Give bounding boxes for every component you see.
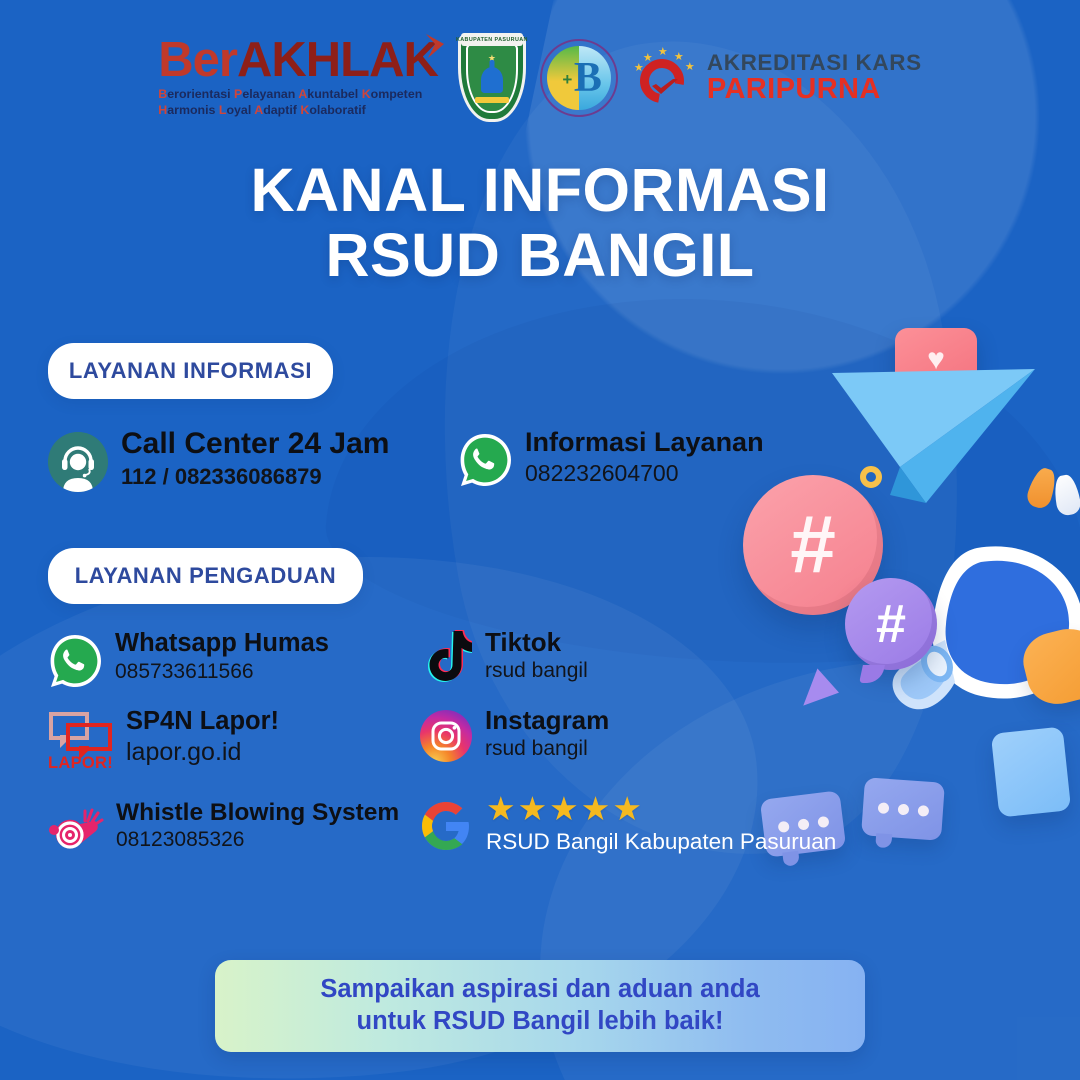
blue-card-decor [991, 726, 1071, 817]
section-pill-pengaduan: LAYANAN PENGADUAN [48, 548, 363, 604]
kabupaten-pasuruan-shield-icon: ★ KABUPATEN PASURUAN [458, 34, 526, 122]
entry-title: Whatsapp Humas [115, 630, 329, 658]
whatsapp-icon [458, 433, 512, 487]
footer-line2: untuk RSUD Bangil lebih baik! [357, 1006, 724, 1038]
hand-decor [1017, 621, 1080, 710]
berakhlak-word-suffix: AKHLAK [237, 33, 438, 87]
poster-canvas: BerAKHLAK Berorientasi Pelayanan Akuntab… [0, 0, 1080, 1080]
page-title-line2: RSUD BANGIL [0, 223, 1080, 288]
kars-line1: AKREDITASI KARS [707, 51, 922, 75]
hashtag-symbol: # [876, 597, 906, 651]
kars-line2: PARIPURNA [707, 75, 922, 105]
instagram-icon [420, 710, 472, 762]
rsud-bangil-logo-icon: + B [540, 39, 618, 117]
entry-value: lapor.go.id [126, 738, 279, 768]
megaphone-icon [885, 536, 1080, 726]
chevron-right-icon [422, 33, 448, 59]
hashtag-bubble-icon: # [845, 578, 937, 670]
entry-value: 082232604700 [525, 460, 764, 487]
heart-notification-icon: ♥ [895, 328, 977, 390]
call-center-headset-icon [48, 432, 108, 492]
entry-whatsapp-humas[interactable]: Whatsapp Humas 085733611566 [48, 630, 329, 688]
rating-stars: ★★★★★ [486, 792, 836, 825]
entry-sp4n-lapor[interactable]: LAPOR! SP4N Lapor! lapor.go.id [48, 708, 279, 772]
page-title-line1: KANAL INFORMASI [250, 156, 829, 224]
entry-title: Call Center 24 Jam [121, 428, 389, 460]
entry-title: Whistle Blowing System [116, 800, 399, 826]
berakhlak-subtitle-line2: Harmonis Loyal Adaptif Kolaboratif [158, 103, 438, 119]
entry-value: rsud bangil [485, 737, 609, 762]
berakhlak-logo: BerAKHLAK Berorientasi Pelayanan Akuntab… [158, 37, 444, 118]
whatsapp-icon [48, 634, 102, 688]
hashtag-circle-icon: # [743, 475, 883, 615]
berakhlak-subtitle-line1: Berorientasi Pelayanan Akuntabel Kompete… [158, 87, 438, 103]
tiktok-icon [420, 630, 472, 686]
entry-value: RSUD Bangil Kabupaten Pasuruan [486, 829, 836, 856]
paper-plane-icon [830, 355, 1040, 515]
lapor-icon: LAPOR! [48, 710, 120, 772]
page-title: KANAL INFORMASI RSUD BANGIL [0, 158, 1080, 289]
entry-call-center[interactable]: Call Center 24 Jam 112 / 082336086879 [48, 428, 389, 492]
berakhlak-wordmark: BerAKHLAK [158, 37, 438, 84]
check-mark-icon [651, 79, 679, 95]
section-pill-informasi: LAYANAN INFORMASI [48, 343, 333, 399]
berakhlak-subtitle: Berorientasi Pelayanan Akuntabel Kompete… [158, 87, 438, 119]
entry-title: SP4N Lapor! [126, 708, 279, 736]
footer-banner: Sampaikan aspirasi dan aduan anda untuk … [215, 960, 865, 1052]
entry-value: rsud bangil [485, 659, 588, 684]
kars-accreditation-icon: ★ ★ ★ ★ ★ [632, 45, 698, 111]
kars-accreditation-logo: ★ ★ ★ ★ ★ AKREDITASI KARS PARIPURNA [632, 45, 922, 111]
entry-value: 08123085326 [116, 828, 399, 853]
orange-cone-decor [1024, 465, 1059, 510]
entry-whistle-blowing-system[interactable]: Whistle Blowing System 08123085326 [48, 800, 399, 862]
entry-google-review[interactable]: ★★★★★ RSUD Bangil Kabupaten Pasuruan [420, 792, 836, 856]
whistle-icon [48, 804, 108, 862]
yellow-ring-decor [860, 466, 882, 488]
entry-title: Instagram [485, 706, 609, 734]
heart-symbol: ♥ [927, 345, 945, 375]
chat-bubble-icon [861, 777, 945, 840]
berakhlak-word-prefix: Ber [158, 33, 237, 87]
white-cone-decor [1052, 473, 1080, 517]
entry-instagram[interactable]: Instagram rsud bangil [420, 706, 609, 762]
entry-title: Tiktok [485, 628, 588, 656]
hashtag-symbol: # [790, 504, 836, 586]
entry-informasi-layanan[interactable]: Informasi Layanan 082232604700 [458, 428, 764, 487]
footer-line1: Sampaikan aspirasi dan aduan anda [320, 974, 759, 1006]
kabupaten-ribbon-label: KABUPATEN PASURUAN [461, 33, 523, 46]
purple-triangle-decor [793, 664, 839, 705]
logo-row: BerAKHLAK Berorientasi Pelayanan Akuntab… [0, 22, 1080, 134]
entry-value: 085733611566 [115, 660, 329, 685]
entry-tiktok[interactable]: Tiktok rsud bangil [420, 628, 588, 686]
entry-value: 112 / 082336086879 [121, 464, 389, 490]
google-icon [420, 800, 472, 852]
entry-title: Informasi Layanan [525, 428, 764, 457]
